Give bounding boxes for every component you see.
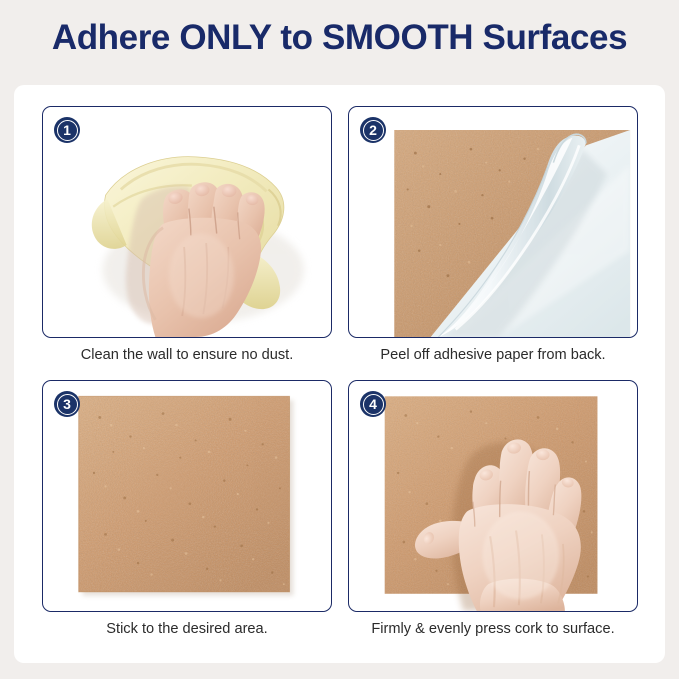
step-caption: Firmly & evenly press cork to surface.	[348, 612, 638, 646]
step-caption: Peel off adhesive paper from back.	[348, 338, 638, 372]
step-number-badge: 2	[360, 117, 386, 143]
step-number: 2	[360, 117, 386, 143]
step-caption: Stick to the desired area.	[42, 612, 332, 646]
step-item: 4 Firmly & evenly press cork to surface.	[348, 380, 638, 646]
step-number-badge: 4	[360, 391, 386, 417]
step-item: 3 Stick to the desired area.	[42, 380, 332, 646]
step-number: 1	[54, 117, 80, 143]
step-number: 4	[360, 391, 386, 417]
step-item: 2 Peel off adhesive paper from back.	[348, 106, 638, 372]
step-number-badge: 3	[54, 391, 80, 417]
page-title: Adhere ONLY to SMOOTH Surfaces	[0, 18, 679, 58]
steps-grid: 1 Clean the wall to ensure no dust.	[42, 106, 638, 646]
step-3-frame: 3	[42, 380, 332, 612]
step-number-badge: 1	[54, 117, 80, 143]
step-1-frame: 1	[42, 106, 332, 338]
hand-pressing-cork-illustration	[349, 381, 637, 611]
cork-square-illustration	[43, 381, 331, 611]
steps-card: 1 Clean the wall to ensure no dust.	[14, 85, 665, 663]
step-item: 1 Clean the wall to ensure no dust.	[42, 106, 332, 372]
step-4-frame: 4	[348, 380, 638, 612]
step-2-frame: 2	[348, 106, 638, 338]
step-caption: Clean the wall to ensure no dust.	[42, 338, 332, 372]
instruction-graphic: Adhere ONLY to SMOOTH Surfaces	[0, 0, 679, 679]
hand-with-cloth-illustration	[43, 107, 331, 337]
cork-peeling-backing-illustration	[349, 107, 637, 337]
step-number: 3	[54, 391, 80, 417]
